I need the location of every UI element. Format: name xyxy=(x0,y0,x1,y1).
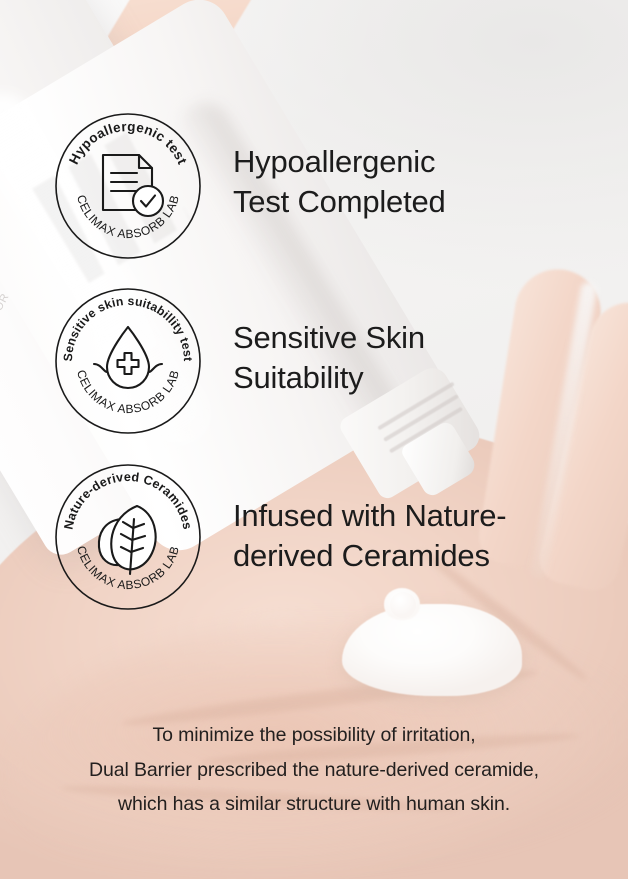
caption-line-1: To minimize the possibility of irritatio… xyxy=(0,718,628,753)
cream-droplet xyxy=(390,592,416,618)
droplet-plus-icon xyxy=(94,327,162,388)
feature-heading-hypoallergenic: Hypoallergenic Test Completed xyxy=(233,142,446,223)
product-feature-graphic: FOR Hypoallergenic test CELIMAX ABSORB L… xyxy=(0,0,628,879)
cream-dollop xyxy=(342,604,522,696)
svg-text:CELIMAX ABSORB LAB: CELIMAX ABSORB LAB xyxy=(74,193,182,241)
caption-line-2: Dual Barrier prescribed the nature-deriv… xyxy=(0,753,628,788)
document-check-icon xyxy=(103,155,163,216)
svg-text:CELIMAX ABSORB LAB: CELIMAX ABSORB LAB xyxy=(74,368,182,416)
feature-heading-sensitive-skin: Sensitive Skin Suitability xyxy=(233,318,425,399)
badge-top-text: Hypoallergenic test xyxy=(66,119,190,167)
badge-bottom-text: CELIMAX ABSORB LAB xyxy=(74,193,182,241)
caption-block: To minimize the possibility of irritatio… xyxy=(0,718,628,822)
leaf-icon xyxy=(99,506,156,574)
feature-heading-ceramides: Infused with Nature- derived Ceramides xyxy=(233,496,603,577)
caption-line-3: which has a similar structure with human… xyxy=(0,787,628,822)
badge-sensitive-skin-test: Sensitive skin suitabillity test CELIMAX… xyxy=(49,282,207,440)
svg-text:Hypoallergenic test: Hypoallergenic test xyxy=(66,119,190,167)
badge-hypoallergenic-test: Hypoallergenic test CELIMAX ABSORB LAB xyxy=(49,107,207,265)
badge-nature-derived-ceramides: Nature-derived Ceramides CELIMAX ABSORB … xyxy=(49,458,207,616)
badge-bottom-text: CELIMAX ABSORB LAB xyxy=(74,368,182,416)
